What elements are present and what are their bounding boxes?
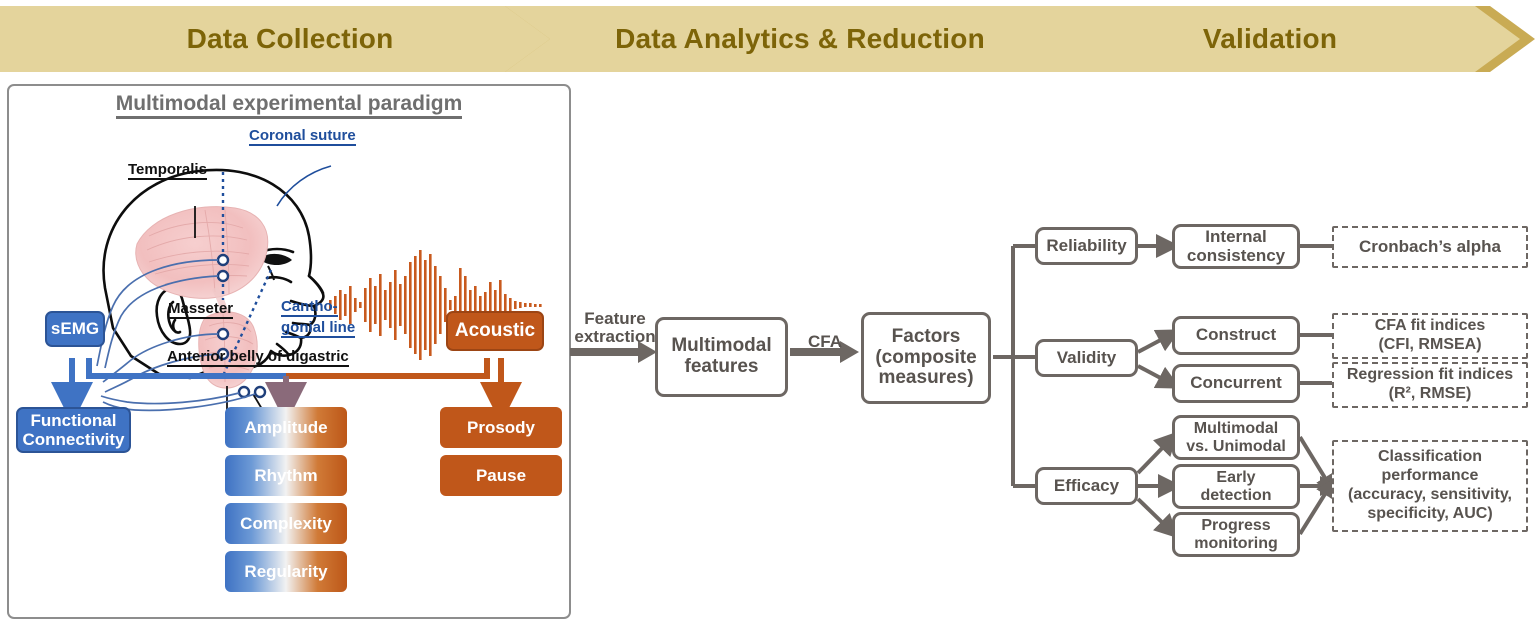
box-cronbachs-alpha: Cronbach’s alpha	[1332, 226, 1528, 268]
box-reliability[interactable]: Reliability	[1035, 227, 1138, 265]
box-efficacy[interactable]: Efficacy	[1035, 467, 1138, 505]
box-early-detection[interactable]: Early detection	[1172, 464, 1300, 509]
box-internal-consistency[interactable]: Internal consistency	[1172, 224, 1300, 269]
bracket-factors-to-branches	[993, 246, 1035, 486]
box-multimodal-features[interactable]: Multimodal features	[655, 317, 788, 397]
box-regression-fit-indices: Regression fit indices (R², RMSE)	[1332, 362, 1528, 408]
box-classification-performance: Classification performance (accuracy, se…	[1332, 440, 1528, 532]
box-multimodal-vs-unimodal[interactable]: Multimodal vs. Unimodal	[1172, 415, 1300, 460]
box-concurrent[interactable]: Concurrent	[1172, 364, 1300, 403]
arrows-efficacy-to-classification	[1300, 437, 1330, 534]
box-progress-monitoring[interactable]: Progress monitoring	[1172, 512, 1300, 557]
box-cfa-fit-indices: CFA fit indices (CFI, RMSEA)	[1332, 313, 1528, 359]
arrows-efficacy-children	[1138, 440, 1170, 530]
banner-stage-label: Validation	[1203, 23, 1337, 55]
label-feature-extraction: Feature extraction	[569, 310, 661, 346]
banner-stage-label: Data Analytics & Reduction	[615, 23, 985, 55]
box-factors-composite-measures[interactable]: Factors (composite measures)	[861, 312, 991, 404]
box-construct[interactable]: Construct	[1172, 316, 1300, 355]
flow-connectors	[0, 0, 1535, 623]
label-cfa: CFA	[795, 333, 855, 351]
banner-stage-label: Data Collection	[187, 23, 394, 55]
arrows-validity-children	[1138, 335, 1170, 383]
box-validity[interactable]: Validity	[1035, 339, 1138, 377]
